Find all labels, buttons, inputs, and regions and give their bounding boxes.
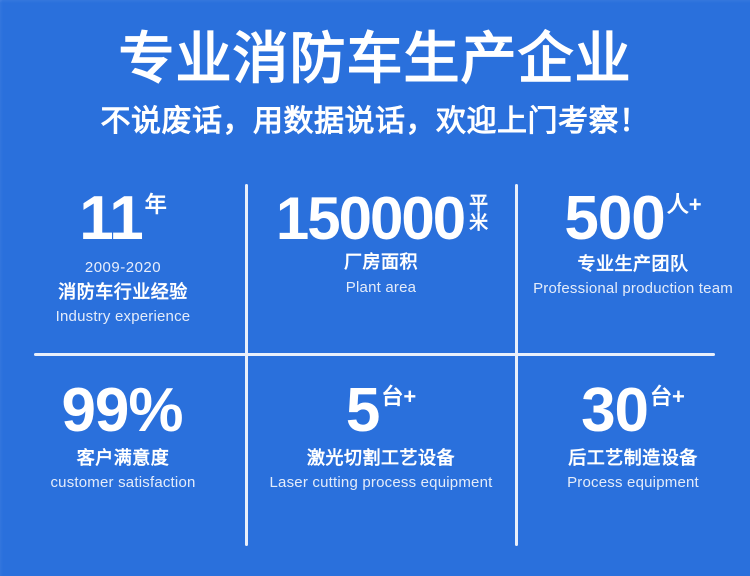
stat-label-cn: 激光切割工艺设备 [307, 447, 455, 470]
stat-cell-plant-area: 150000 平米 厂房面积 Plant area [246, 178, 516, 354]
stat-cell-industry-experience: 11 年 2009-2020 消防车行业经验 Industry experien… [0, 178, 246, 354]
stat-value: 150000 [276, 190, 464, 247]
page-subtitle: 不说废话，用数据说话，欢迎上门考察！ [0, 90, 750, 140]
stat-unit: 人+ [667, 194, 702, 216]
stat-value: 11 [79, 190, 143, 249]
stat-value: 99% [61, 382, 182, 441]
stat-label-cn: 专业生产团队 [578, 253, 689, 276]
stat-label-en: Plant area [346, 279, 416, 297]
stat-unit: 台+ [650, 386, 685, 408]
header-block: 专业消防车生产企业 不说废话，用数据说话，欢迎上门考察！ [0, 0, 750, 140]
stat-label-en: Process equipment [567, 474, 699, 492]
page-title: 专业消防车生产企业 [0, 0, 750, 90]
stat-value-row: 11 年 [79, 190, 167, 249]
stat-label-cn: 消防车行业经验 [58, 281, 188, 304]
stat-cell-process-equipment: 30 台+ 后工艺制造设备 Process equipment [516, 354, 750, 550]
stat-value-row: 5 台+ [346, 382, 416, 441]
stat-value: 5 [346, 382, 379, 441]
stat-label-cn: 客户满意度 [77, 447, 170, 470]
stat-label-en: customer satisfaction [50, 474, 195, 492]
stat-unit: 年 [145, 194, 167, 216]
stat-value: 500 [564, 190, 664, 249]
stat-value-row: 30 台+ [581, 382, 685, 441]
promo-banner: 专业消防车生产企业 不说废话，用数据说话，欢迎上门考察！ 11 年 2009-2… [0, 0, 750, 576]
stat-label-en: Professional production team [533, 280, 733, 298]
stat-cell-customer-satisfaction: 99% 客户满意度 customer satisfaction [0, 354, 246, 550]
stat-unit: 平米 [466, 193, 486, 231]
stat-range: 2009-2020 [85, 259, 161, 277]
stat-value-row: 99% [61, 382, 184, 441]
stat-unit: 台+ [381, 386, 416, 408]
stat-value-row: 150000 平米 [276, 190, 486, 247]
stat-label-cn: 厂房面积 [344, 251, 418, 274]
stat-value-row: 500 人+ [564, 190, 701, 249]
stat-label-en: Laser cutting process equipment [270, 474, 493, 492]
stat-cell-laser-cutting-equipment: 5 台+ 激光切割工艺设备 Laser cutting process equi… [246, 354, 516, 550]
stat-label-cn: 后工艺制造设备 [568, 447, 698, 470]
stat-value: 30 [581, 382, 648, 441]
stats-grid: 11 年 2009-2020 消防车行业经验 Industry experien… [0, 178, 750, 550]
stat-label-en: Industry experience [56, 308, 191, 326]
stat-cell-production-team: 500 人+ 专业生产团队 Professional production te… [516, 178, 750, 354]
